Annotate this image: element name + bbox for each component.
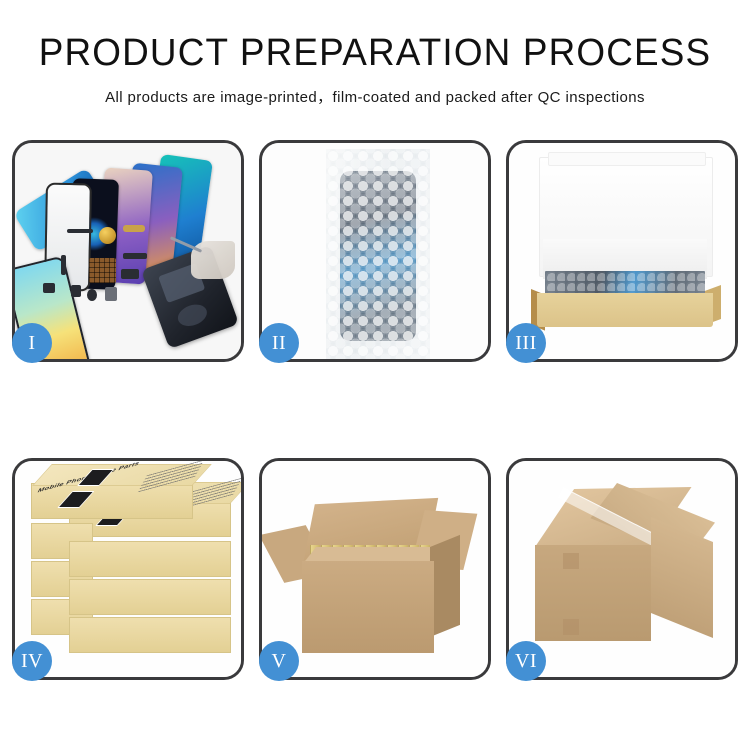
process-step-panel-4: Mobile Phone Spare Parts Mobile Phone Sp… — [12, 458, 244, 680]
bubble-texture-overlay — [326, 149, 430, 359]
small-part-g — [43, 283, 55, 293]
page-title: PRODUCT PREPARATION PROCESS — [11, 34, 739, 72]
screw-tray-part — [89, 258, 116, 283]
small-part-a — [61, 255, 66, 275]
mailer-front-panel — [537, 293, 713, 327]
box-stack: Mobile Phone Spare Parts Mobile Phone Sp… — [21, 479, 241, 669]
copper-coil-part — [99, 227, 116, 244]
small-part-b — [123, 253, 147, 259]
page-header: PRODUCT PREPARATION PROCESS All products… — [0, 0, 750, 107]
box-lid: Mobile Phone Spare Parts — [32, 464, 212, 486]
step-2-image — [262, 143, 488, 359]
step-1-image — [15, 143, 241, 359]
process-step-grid: I II — [12, 140, 738, 680]
carton-hand-hole-lower — [563, 619, 579, 635]
step-4-image: Mobile Phone Spare Parts Mobile Phone Sp… — [15, 461, 241, 677]
carton-side-panel — [430, 535, 460, 637]
stacked-box-5 — [69, 541, 231, 577]
sealed-carton-scene — [509, 461, 735, 677]
box-stack-scene: Mobile Phone Spare Parts Mobile Phone Sp… — [15, 461, 241, 677]
box-screen-graphics — [79, 469, 141, 484]
carton-front-panel — [302, 561, 434, 653]
process-step-panel-5: V — [259, 458, 491, 680]
process-step-panel-2: II — [259, 140, 491, 362]
step-badge-1: I — [12, 323, 52, 363]
step-badge-3: III — [506, 323, 546, 363]
stacked-box-top-left: Mobile Phone Spare Parts — [31, 483, 193, 519]
step-badge-4: IV — [12, 641, 52, 681]
small-part-d — [71, 285, 81, 297]
button-part — [123, 225, 145, 232]
process-step-panel-6: VI — [506, 458, 738, 680]
step-badge-6: VI — [506, 641, 546, 681]
phone-parts-scene — [15, 143, 241, 359]
bubble-wrap-scene — [262, 143, 488, 359]
carton-hand-hole-upper — [563, 553, 579, 569]
stacked-box-7 — [69, 617, 231, 653]
small-part-e — [87, 289, 97, 301]
step-3-image — [509, 143, 735, 359]
process-step-panel-3: III — [506, 140, 738, 362]
process-step-panel-1: I — [12, 140, 244, 362]
inner-box-scene — [509, 143, 735, 359]
carton-filling-scene — [262, 461, 488, 677]
flex-cable-part — [67, 229, 93, 233]
page-subtitle: All products are image-printed，film-coat… — [0, 86, 750, 107]
step-badge-2: II — [259, 323, 299, 363]
bubble-wrap-bag — [326, 149, 430, 359]
step-6-image — [509, 461, 735, 677]
step-badge-5: V — [259, 641, 299, 681]
stacked-box-6 — [69, 579, 231, 615]
step-5-image — [262, 461, 488, 677]
small-part-f — [105, 287, 117, 301]
hand-with-tweezers — [191, 241, 235, 279]
carton-front-panel — [535, 545, 651, 641]
small-part-c — [121, 269, 139, 279]
